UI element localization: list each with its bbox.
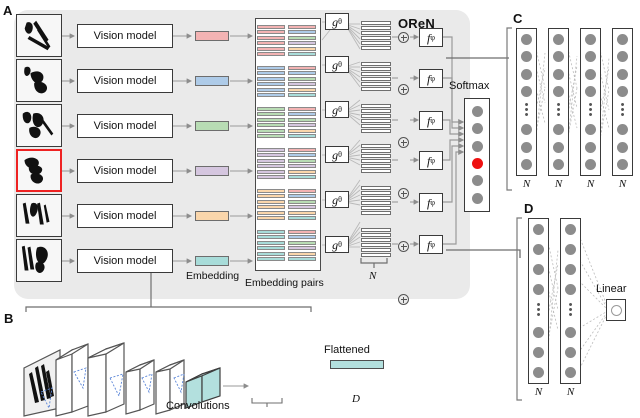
relation-stack-row: [361, 62, 391, 66]
relation-stack-row: [361, 124, 391, 128]
stimulus-thumbnail[interactable]: [16, 194, 62, 237]
embedding-pair-row: [257, 25, 285, 29]
relation-stack: [361, 62, 391, 92]
embedding-pair-row: [257, 241, 285, 245]
softmax-label: Softmax: [449, 80, 489, 92]
embedding-pair-anchor-column: [257, 66, 285, 98]
flattened-label: Flattened: [324, 344, 370, 356]
relation-stack-row: [361, 154, 391, 158]
relation-stack: [361, 144, 391, 174]
embedding-pair-row: [257, 148, 285, 152]
embedding-pair-row: [288, 93, 316, 97]
neuron-unit: [533, 347, 544, 358]
panel-letter-c: C: [513, 12, 522, 25]
embedding-pair-row: [257, 235, 285, 239]
embedding-pair-row: [288, 30, 316, 34]
embedding-pair-row: [288, 77, 316, 81]
embedding-pair-row: [257, 252, 285, 256]
neuron-unit: [533, 244, 544, 255]
relation-stack-row: [361, 87, 391, 91]
panel-c-column-label: N: [516, 178, 537, 190]
softmax-selected-unit: [472, 158, 483, 169]
relation-stack-row: [361, 104, 391, 108]
embedding-bar: [195, 76, 229, 86]
panel-c-neuron-column: •••: [548, 28, 569, 176]
embedding-pair-candidate-column: [288, 189, 316, 221]
embedding-pair-row: [257, 36, 285, 40]
embedding-pair-row: [257, 41, 285, 45]
embedding-pair-row: [288, 205, 316, 209]
relation-stack-row: [361, 169, 391, 173]
embedding-pair-row: [257, 71, 285, 75]
panel-c-neuron-column: •••: [612, 28, 633, 176]
embedding-bar: [195, 211, 229, 221]
relation-stack-row: [361, 211, 391, 215]
embedding-pair-row: [257, 246, 285, 250]
relation-stack-row: [361, 41, 391, 45]
panel-c-column-label: N: [612, 178, 633, 190]
relation-stack-row: [361, 72, 391, 76]
embedding-pair-row: [257, 134, 285, 138]
embedding-pairs-label: Embedding pairs: [245, 277, 324, 289]
vertical-ellipsis-icon: •••: [621, 103, 625, 118]
neuron-unit: [553, 51, 564, 62]
stimulus-thumbnail[interactable]: [16, 239, 62, 282]
aggregate-module-f-phi[interactable]: fφ: [419, 28, 443, 47]
neuron-unit: [533, 264, 544, 275]
embedding-pair-candidate-column: [288, 25, 316, 57]
panel-letter-a: A: [3, 4, 12, 17]
relation-stack: [361, 104, 391, 134]
vision-model-box[interactable]: Vision model: [77, 24, 173, 48]
relation-stack: [361, 21, 391, 51]
neuron-unit: [585, 124, 596, 135]
vision-model-box[interactable]: Vision model: [77, 249, 173, 273]
panel-c-neuron-column: •••: [580, 28, 601, 176]
vertical-ellipsis-icon: •••: [537, 303, 541, 318]
relation-module-g-theta[interactable]: gθ: [325, 236, 349, 253]
embedding-pair-row: [257, 175, 285, 179]
neuron-unit: [553, 124, 564, 135]
neuron-unit: [521, 86, 532, 97]
panel-c-column-label: N: [548, 178, 569, 190]
neuron-unit: [565, 327, 576, 338]
embedding-pair-row: [257, 211, 285, 215]
neuron-unit: [553, 159, 564, 170]
embedding-pair-row: [288, 246, 316, 250]
sum-icon: [398, 137, 409, 148]
embedding-pair-row: [257, 170, 285, 174]
aggregate-module-f-phi[interactable]: fφ: [419, 69, 443, 88]
embedding-pair-row: [257, 66, 285, 70]
embedding-pair-row: [288, 123, 316, 127]
convolutions-label: Convolutions: [166, 400, 230, 412]
neuron-unit: [521, 159, 532, 170]
neuron-unit: [521, 124, 532, 135]
panel-c-column-label: N: [580, 178, 601, 190]
softmax-unit: [472, 141, 483, 152]
neuron-unit: [585, 86, 596, 97]
vertical-ellipsis-icon: •••: [557, 103, 561, 118]
neuron-unit: [521, 69, 532, 80]
relation-stack-row: [361, 164, 391, 168]
vertical-ellipsis-icon: •••: [589, 103, 593, 118]
embedding-pair-row: [288, 200, 316, 204]
neuron-unit: [585, 34, 596, 45]
neuron-unit: [585, 51, 596, 62]
embedding-pair-row: [288, 153, 316, 157]
embedding-pair-candidate-column: [288, 66, 316, 98]
stimulus-thumbnail[interactable]: [16, 104, 62, 147]
relation-module-g-theta[interactable]: gθ: [325, 101, 349, 118]
embedding-pair-row: [257, 257, 285, 261]
neuron-unit: [521, 142, 532, 153]
neuron-unit: [617, 69, 628, 80]
relation-stack-row: [361, 196, 391, 200]
sum-icon: [398, 241, 409, 252]
neuron-unit: [533, 284, 544, 295]
relation-stack-row: [361, 253, 391, 257]
aggregate-module-f-phi[interactable]: fφ: [419, 235, 443, 254]
relation-stack-row: [361, 233, 391, 237]
neuron-unit: [565, 264, 576, 275]
neuron-unit: [565, 367, 576, 378]
embedding-pair-row: [288, 252, 316, 256]
embedding-pair-row: [288, 230, 316, 234]
relation-stack-row: [361, 31, 391, 35]
relation-stack-row: [361, 36, 391, 40]
embedding-pair-row: [288, 107, 316, 111]
relation-module-g-theta[interactable]: gθ: [325, 13, 349, 30]
panel-d-neuron-column: •••: [560, 218, 581, 384]
embedding-pair-row: [288, 148, 316, 152]
neuron-unit: [617, 124, 628, 135]
neuron-unit: [521, 51, 532, 62]
embedding-pair-row: [257, 112, 285, 116]
embedding-pair-row: [288, 82, 316, 86]
neuron-unit: [533, 327, 544, 338]
relation-stack-row: [361, 119, 391, 123]
relation-stack-row: [361, 243, 391, 247]
flattened-vector: [330, 360, 384, 369]
embedding-pair-row: [288, 112, 316, 116]
embedding-bar: [195, 166, 229, 176]
embedding-pair-row: [257, 30, 285, 34]
neuron-unit: [617, 86, 628, 97]
embedding-pair-row: [288, 25, 316, 29]
neuron-unit: [565, 224, 576, 235]
stimulus-thumbnail[interactable]: [16, 59, 62, 102]
panel-letter-d: D: [524, 202, 533, 215]
softmax-unit: [472, 193, 483, 204]
softmax-unit: [472, 123, 483, 134]
vision-model-box[interactable]: Vision model: [77, 204, 173, 228]
relation-stack-row: [361, 21, 391, 25]
embedding-pair-group: [256, 148, 318, 181]
neuron-unit: [521, 34, 532, 45]
relation-stack-row: [361, 26, 391, 30]
embedding-pair-row: [257, 118, 285, 122]
neuron-unit: [553, 34, 564, 45]
relation-stack: [361, 228, 391, 258]
embedding-pair-anchor-column: [257, 230, 285, 262]
relation-stack-row: [361, 67, 391, 71]
embedding-pair-group: [256, 230, 318, 263]
embedding-pair-candidate-column: [288, 230, 316, 262]
embedding-pair-row: [257, 129, 285, 133]
embedding-pair-row: [288, 134, 316, 138]
neuron-unit: [565, 347, 576, 358]
aggregate-module-f-phi[interactable]: fφ: [419, 111, 443, 130]
stack-count-brace: [358, 258, 398, 272]
neuron-unit: [553, 142, 564, 153]
embedding-pair-row: [257, 93, 285, 97]
vision-model-box[interactable]: Vision model: [77, 69, 173, 93]
embedding-pair-row: [257, 216, 285, 220]
softmax-unit: [472, 106, 483, 117]
neuron-unit: [585, 69, 596, 80]
relation-stack-row: [361, 191, 391, 195]
embedding-pair-row: [288, 129, 316, 133]
embedding-pair-row: [288, 52, 316, 56]
linear-output-node[interactable]: [606, 299, 626, 321]
embedding-pair-row: [257, 205, 285, 209]
neuron-unit: [585, 159, 596, 170]
embedding-pair-row: [288, 235, 316, 239]
embedding-pair-row: [257, 189, 285, 193]
relation-stack-row: [361, 46, 391, 50]
embedding-pair-row: [288, 36, 316, 40]
relation-module-g-theta[interactable]: gθ: [325, 146, 349, 163]
panel-d-column-label: N: [528, 386, 549, 398]
neuron-unit: [585, 142, 596, 153]
embedding-label: Embedding: [186, 270, 239, 282]
neuron-unit: [617, 142, 628, 153]
sum-icon: [398, 294, 409, 305]
embedding-pair-anchor-column: [257, 107, 285, 139]
embedding-pair-group: [256, 66, 318, 99]
embedding-pair-group: [256, 189, 318, 222]
neuron-unit: [553, 86, 564, 97]
embedding-pair-row: [257, 153, 285, 157]
embedding-pair-row: [288, 88, 316, 92]
relation-stack-row: [361, 186, 391, 190]
relation-stack-row: [361, 77, 391, 81]
relation-module-g-theta[interactable]: gθ: [325, 56, 349, 73]
embedding-pair-row: [257, 88, 285, 92]
neuron-unit: [533, 224, 544, 235]
embedding-bar: [195, 256, 229, 266]
embedding-pair-row: [288, 118, 316, 122]
relation-stack-row: [361, 149, 391, 153]
neuron-unit: [553, 69, 564, 80]
relation-stack-row: [361, 82, 391, 86]
embedding-bar: [195, 121, 229, 131]
embedding-pair-row: [288, 241, 316, 245]
panel-d-column-label: N: [560, 386, 581, 398]
neuron-unit: [617, 34, 628, 45]
stimulus-thumbnail[interactable]: [16, 14, 62, 57]
embedding-pairs-box: [255, 18, 321, 271]
embedding-pair-group: [256, 107, 318, 140]
linear-label: Linear: [596, 283, 627, 295]
relation-stack-row: [361, 129, 391, 133]
embedding-pair-row: [288, 47, 316, 51]
embedding-pair-row: [288, 71, 316, 75]
sum-icon: [398, 84, 409, 95]
relation-stack-row: [361, 159, 391, 163]
stack-count-label: N: [369, 270, 376, 282]
relation-stack-row: [361, 114, 391, 118]
stimulus-thumbnail-selected[interactable]: [16, 149, 62, 192]
relation-stack-row: [361, 109, 391, 113]
embedding-pair-candidate-column: [288, 148, 316, 180]
relation-stack-row: [361, 144, 391, 148]
softmax-unit: [472, 175, 483, 186]
vertical-ellipsis-icon: •••: [525, 103, 529, 118]
panel-letter-b: B: [4, 312, 13, 325]
embedding-pair-row: [257, 107, 285, 111]
embedding-pair-row: [288, 170, 316, 174]
embedding-pair-row: [257, 82, 285, 86]
embedding-pair-row: [257, 164, 285, 168]
embedding-pair-row: [288, 211, 316, 215]
relation-stack-row: [361, 238, 391, 242]
panel-c-neuron-column: •••: [516, 28, 537, 176]
embedding-pair-row: [288, 175, 316, 179]
embedding-pair-row: [257, 52, 285, 56]
flattened-dim-label: D: [352, 393, 360, 405]
neuron-unit: [617, 51, 628, 62]
neuron-unit: [617, 159, 628, 170]
relation-stack-row: [361, 201, 391, 205]
aggregate-module-f-phi[interactable]: fφ: [419, 151, 443, 170]
aggregate-module-f-phi[interactable]: fφ: [419, 193, 443, 212]
embedding-pair-row: [257, 194, 285, 198]
relation-stack-row: [361, 228, 391, 232]
embedding-pair-row: [257, 47, 285, 51]
neuron-unit: [565, 284, 576, 295]
embedding-pair-group: [256, 25, 318, 58]
vision-model-box[interactable]: Vision model: [77, 159, 173, 183]
relation-stack-row: [361, 206, 391, 210]
embedding-pair-row: [288, 66, 316, 70]
relation-stack: [361, 186, 391, 216]
embedding-pair-row: [288, 41, 316, 45]
embedding-pair-row: [288, 216, 316, 220]
sum-icon: [398, 188, 409, 199]
embedding-pair-row: [257, 123, 285, 127]
relation-stack-row: [361, 248, 391, 252]
embedding-pair-row: [257, 77, 285, 81]
relation-module-g-theta[interactable]: gθ: [325, 191, 349, 208]
embedding-pair-row: [257, 200, 285, 204]
panel-d-neuron-column: •••: [528, 218, 549, 384]
embedding-pair-row: [257, 159, 285, 163]
embedding-pair-row: [288, 189, 316, 193]
embedding-pair-row: [288, 159, 316, 163]
neuron-unit: [533, 367, 544, 378]
softmax-output-column[interactable]: [464, 98, 490, 212]
embedding-pair-anchor-column: [257, 25, 285, 57]
embedding-pair-row: [288, 164, 316, 168]
embedding-pair-row: [257, 230, 285, 234]
embedding-pair-anchor-column: [257, 189, 285, 221]
vertical-ellipsis-icon: •••: [569, 303, 573, 318]
vision-model-box[interactable]: Vision model: [77, 114, 173, 138]
embedding-pair-candidate-column: [288, 107, 316, 139]
embedding-bar: [195, 31, 229, 41]
embedding-pair-row: [288, 257, 316, 261]
neuron-unit: [565, 244, 576, 255]
embedding-pair-anchor-column: [257, 148, 285, 180]
embedding-pair-row: [288, 194, 316, 198]
sum-icon: [398, 32, 409, 43]
